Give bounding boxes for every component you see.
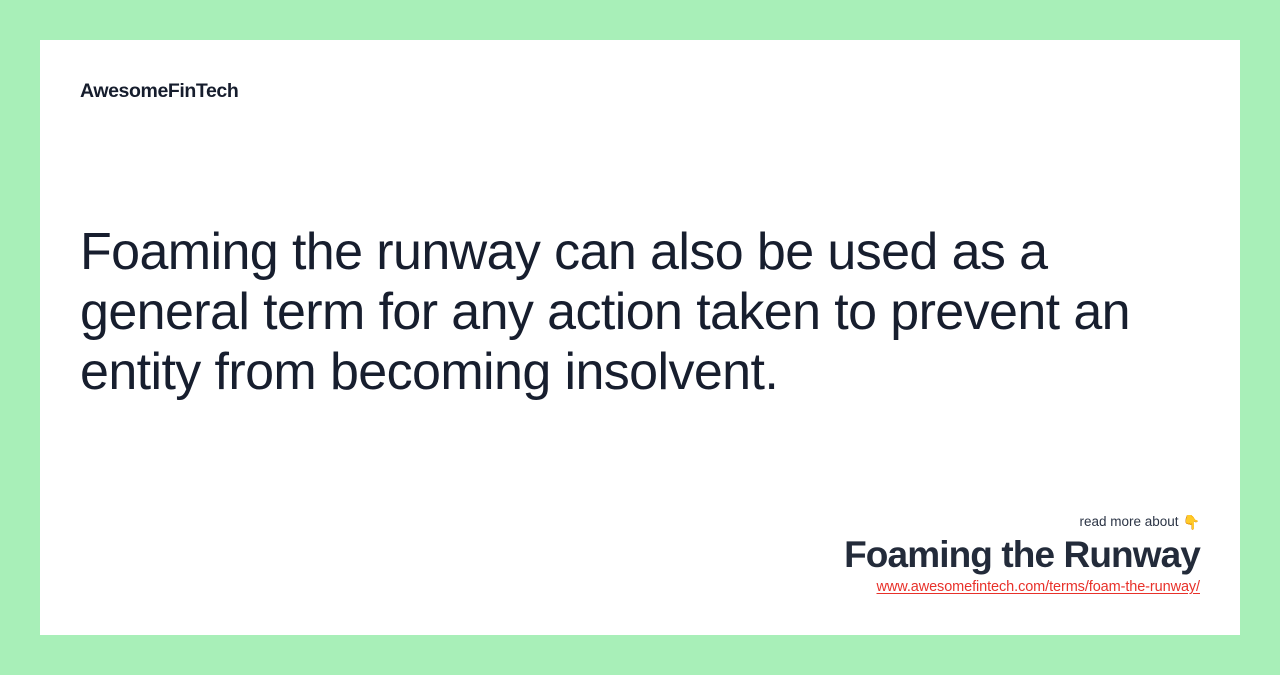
point-down-icon: 👇 <box>1183 515 1200 529</box>
term-title: Foaming the Runway <box>500 534 1200 576</box>
read-more-row: read more about👇 <box>500 513 1200 531</box>
read-more-label: read more about <box>1080 514 1179 529</box>
term-url-link[interactable]: www.awesomefintech.com/terms/foam-the-ru… <box>500 577 1200 597</box>
quote-text: Foaming the runway can also be used as a… <box>80 222 1185 402</box>
footer-block: read more about👇 Foaming the Runway www.… <box>500 513 1200 597</box>
brand-logo: AwesomeFinTech <box>80 82 238 102</box>
quote-card: AwesomeFinTech Foaming the runway can al… <box>40 40 1240 635</box>
